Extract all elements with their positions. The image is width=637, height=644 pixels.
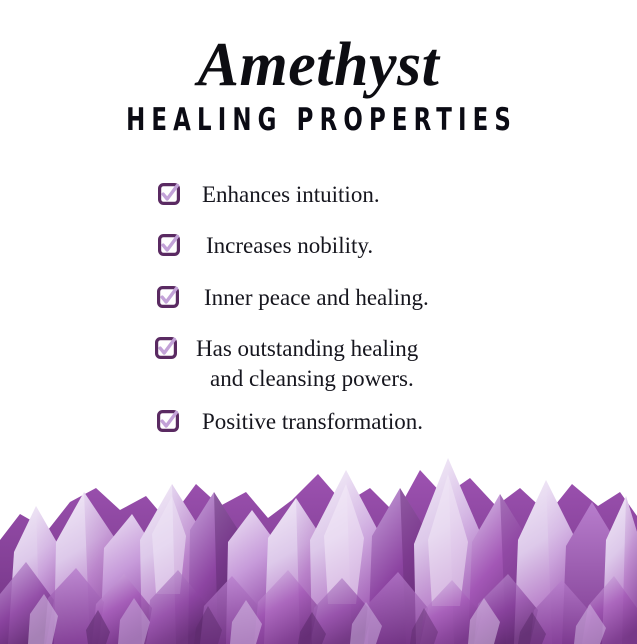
- list-item: Has outstanding healingand cleansing pow…: [0, 334, 637, 393]
- list-item-label: Enhances intuition.: [202, 180, 380, 209]
- list-item: Increases nobility.: [0, 231, 637, 260]
- checkbox-checked-icon: [158, 183, 180, 205]
- list-item: Positive transformation.: [0, 407, 637, 436]
- list-item: Inner peace and healing.: [0, 283, 637, 312]
- poster-header: Amethyst HEALING PROPERTIES: [0, 0, 637, 136]
- list-item-label: Positive transformation.: [202, 407, 423, 436]
- page-subtitle: HEALING PROPERTIES: [57, 96, 579, 136]
- list-item-label-line1: Has outstanding healing: [196, 336, 418, 361]
- list-item: Enhances intuition.: [0, 180, 637, 209]
- checkbox-checked-icon: [158, 234, 180, 256]
- amethyst-crystal-cluster-image: [0, 444, 637, 644]
- list-item-label-line2: and cleansing powers.: [196, 364, 418, 393]
- list-item-label: Inner peace and healing.: [204, 283, 429, 312]
- page-title: Amethyst: [0, 0, 637, 96]
- checkbox-checked-icon: [155, 337, 177, 359]
- checkbox-checked-icon: [157, 286, 179, 308]
- list-item-label: Increases nobility.: [206, 231, 373, 260]
- healing-properties-list: Enhances intuition. Increases nobility. …: [0, 180, 637, 437]
- list-item-label-multiline: Has outstanding healingand cleansing pow…: [196, 334, 418, 393]
- checkbox-checked-icon: [157, 410, 179, 432]
- amethyst-healing-properties-poster: Amethyst HEALING PROPERTIES Enhances int…: [0, 0, 637, 644]
